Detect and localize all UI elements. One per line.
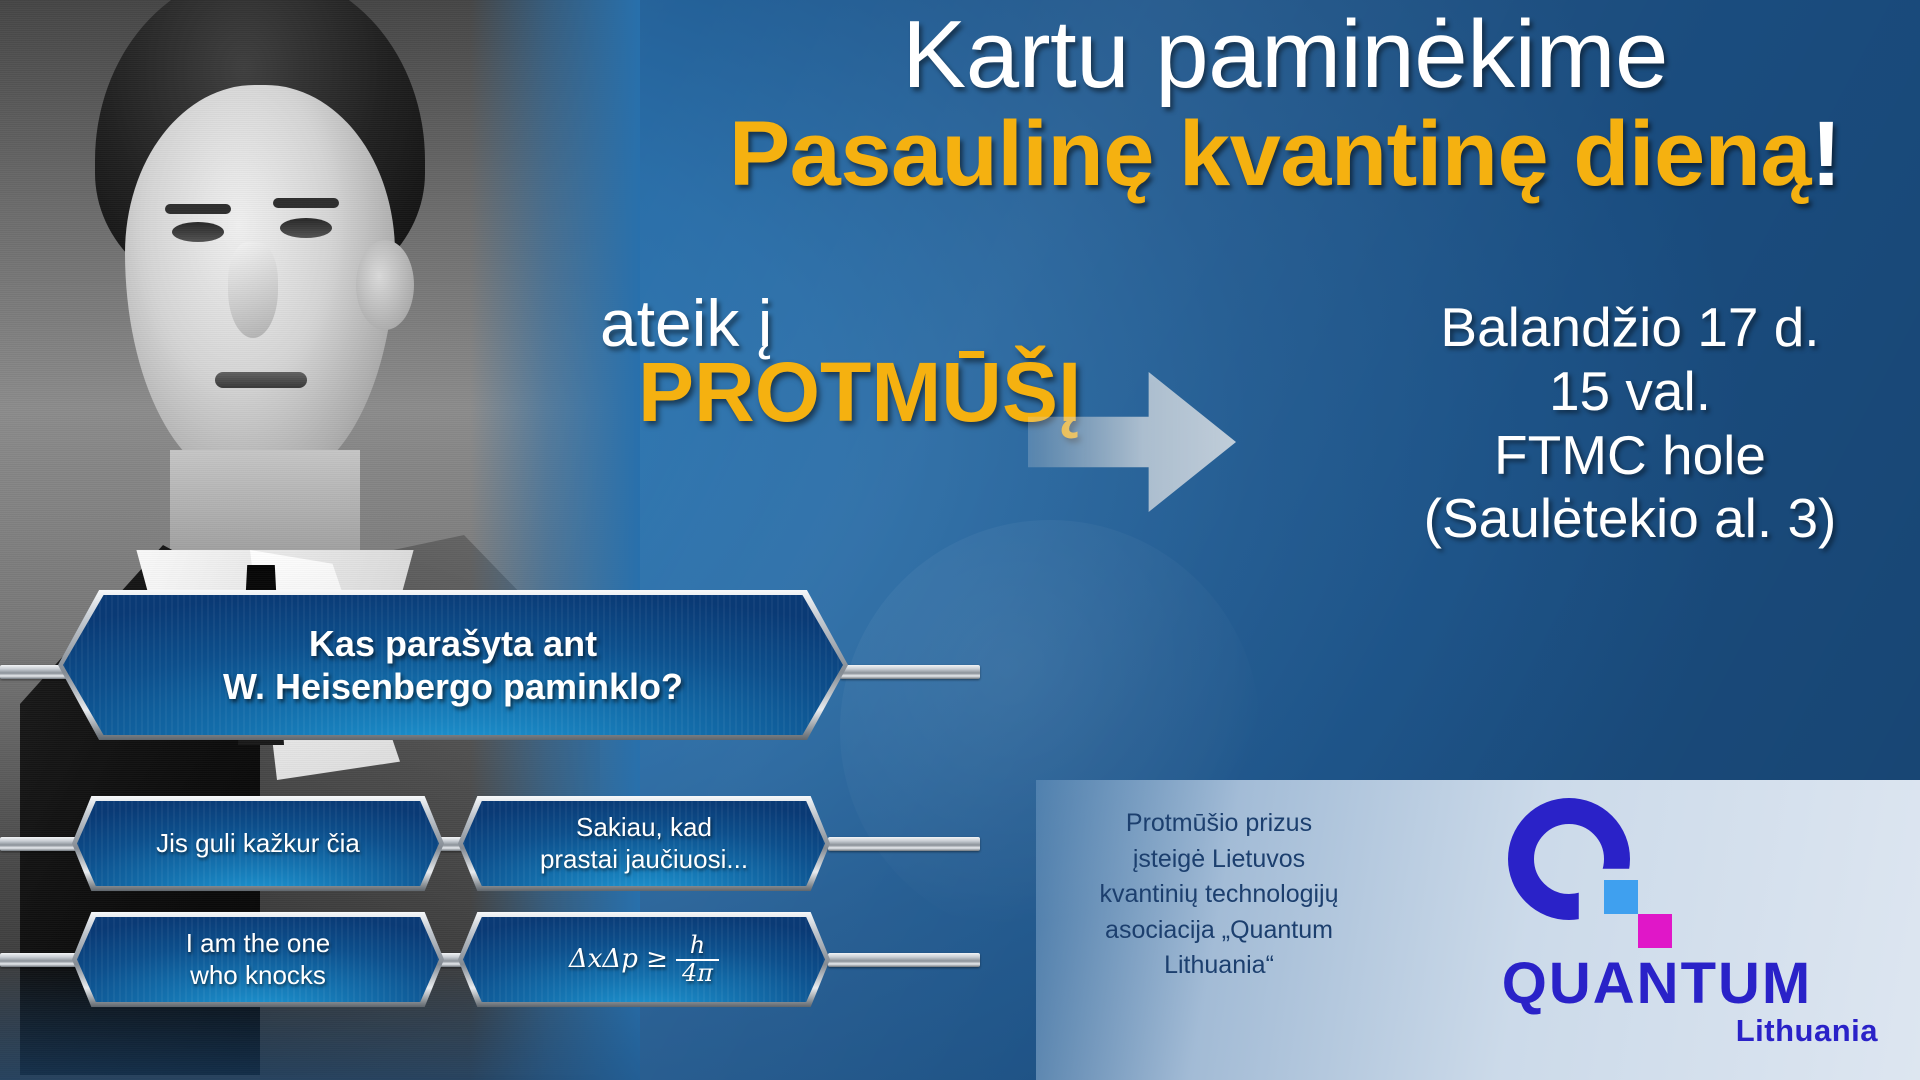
logo-square-magenta: [1638, 914, 1672, 948]
headline-line2: Pasaulinę kvantinę dieną!: [660, 106, 1910, 203]
sponsor-text: Protmūšio prizus įsteigė Lietuvos kvanti…: [1054, 806, 1384, 984]
quantum-q-icon: [1508, 798, 1678, 948]
headline-highlight: Pasaulinę kvantinę dieną: [729, 103, 1811, 205]
logo-square-blue: [1604, 880, 1638, 914]
answer-c-line2: who knocks: [186, 960, 331, 992]
answer-rail-d-right: [828, 953, 980, 967]
headline-block: Kartu paminėkime Pasaulinę kvantinę dien…: [660, 6, 1910, 203]
logo-wordmark: QUANTUM: [1422, 950, 1892, 1017]
formula-lhs: ΔxΔp ≥: [569, 944, 668, 976]
answer-rail-c-left: [0, 953, 78, 967]
headline-exclamation: !: [1811, 103, 1841, 205]
answer-a-line1: Jis guli kažkur čia: [156, 828, 360, 860]
event-venue: FTMC hole: [1350, 424, 1910, 488]
question-line2: W. Heisenbergo paminklo?: [223, 665, 683, 708]
event-address: (Saulėtekio al. 3): [1350, 487, 1910, 551]
event-details: Balandžio 17 d. 15 val. FTMC hole (Saulė…: [1350, 296, 1910, 551]
answer-b-line1: Sakiau, kad: [540, 812, 748, 844]
answer-rail-a-left: [0, 837, 78, 851]
sponsor-text-line2: įsteigė Lietuvos: [1054, 842, 1384, 878]
sponsor-text-line4: asociacija „Quantum: [1054, 913, 1384, 949]
cta-block: ateik į PROTMŪŠĮ: [560, 290, 1180, 434]
sponsor-panel: Protmūšio prizus įsteigė Lietuvos kvanti…: [1036, 780, 1920, 1080]
poster-canvas: Kartu paminėkime Pasaulinę kvantinę dien…: [0, 0, 1920, 1080]
question-line1: Kas parašyta ant: [223, 622, 683, 665]
sponsor-text-line3: kvantinių technologijų: [1054, 877, 1384, 913]
answer-c-line1: I am the one: [186, 928, 331, 960]
event-time: 15 val.: [1350, 360, 1910, 424]
uncertainty-formula: ΔxΔp ≥ h 4π: [569, 933, 719, 985]
answer-rail-b-right: [828, 837, 980, 851]
question-rail-right: [840, 665, 980, 679]
logo-subtext: Lithuania: [1422, 1013, 1892, 1049]
answer-option-d[interactable]: ΔxΔp ≥ h 4π: [458, 912, 830, 1007]
sponsor-text-line1: Protmūšio prizus: [1054, 806, 1384, 842]
quantum-lithuania-logo: QUANTUM Lithuania: [1422, 798, 1892, 1060]
formula-denominator: 4π: [676, 959, 719, 986]
headline-line1: Kartu paminėkime: [660, 6, 1910, 104]
quiz-question: Kas parašyta ant W. Heisenbergo paminklo…: [58, 590, 848, 740]
answer-option-b[interactable]: Sakiau, kad prastai jaučiuosi...: [458, 796, 830, 891]
answer-b-line2: prastai jaučiuosi...: [540, 844, 748, 876]
answer-option-a[interactable]: Jis guli kažkur čia: [72, 796, 444, 891]
formula-numerator: h: [684, 933, 711, 958]
event-date: Balandžio 17 d.: [1350, 296, 1910, 360]
answer-option-c[interactable]: I am the one who knocks: [72, 912, 444, 1007]
sponsor-text-line5: Lithuania“: [1054, 948, 1384, 984]
